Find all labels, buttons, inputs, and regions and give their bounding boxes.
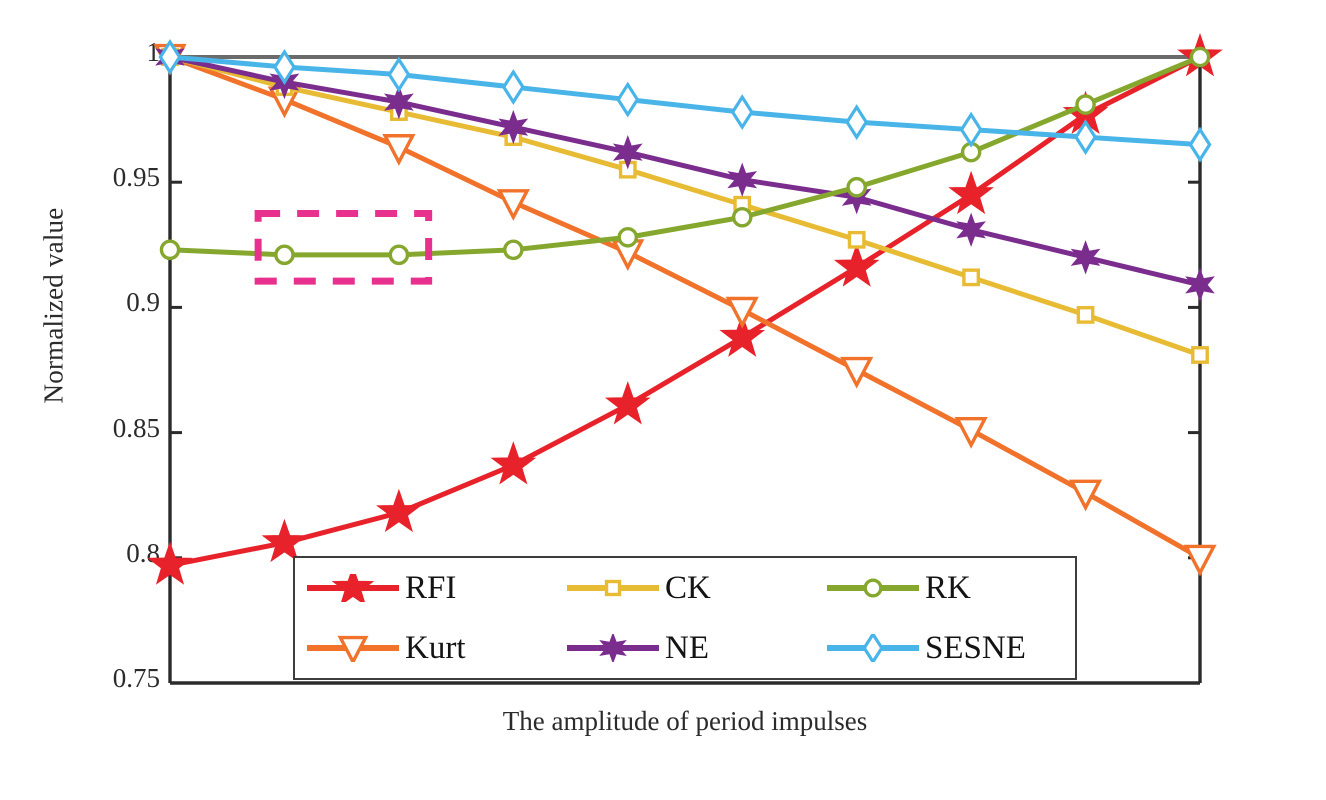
marker-star [493,443,534,482]
marker-star [378,491,419,530]
marker-circle [734,209,751,226]
series-line-ne [170,57,1200,285]
legend-label-kurt: Kurt [405,632,466,665]
marker-triangle-down [843,359,871,385]
legend: RFI CK RK Kurt NE SESNE [293,556,1077,680]
series-kurt [156,46,1214,573]
legend-swatch-ne [565,634,661,662]
marker-circle [619,229,636,246]
series-line-sesne [170,57,1200,145]
marker-circle [1191,48,1208,65]
legend-swatch-ck [565,574,661,602]
marker-square [1078,308,1092,322]
legend-item-rfi[interactable]: RFI [295,572,555,605]
marker-diamond [1190,130,1209,160]
marker-triangle-down [1186,546,1214,572]
legend-label-ck: CK [665,572,711,605]
marker-circle [390,246,407,263]
marker-circle [1077,96,1094,113]
marker-diamond [847,107,866,137]
marker-square [964,270,978,284]
legend-item-sesne[interactable]: SESNE [815,632,1075,665]
marker-circle [505,241,522,258]
marker-triangle-down [957,419,985,445]
marker-square [849,233,863,247]
legend-item-ck[interactable]: CK [555,572,815,605]
legend-label-ne: NE [665,632,709,665]
series-ck [163,50,1207,362]
marker-star [264,521,305,560]
marker-diamond [618,85,637,115]
plot-area [0,0,1326,800]
legend-swatch-rfi [305,574,401,602]
x-axis-title: The amplitude of period impulses [170,706,1200,737]
marker-diamond [504,72,523,102]
legend-item-rk[interactable]: RK [815,572,1075,605]
marker-diamond [733,97,752,127]
legend-swatch-kurt [305,634,401,662]
marker-circle [848,179,865,196]
legend-item-kurt[interactable]: Kurt [295,632,555,665]
marker-triangle-down [1072,481,1100,507]
marker-triangle-down [385,136,413,162]
chart-figure: Normalized value 10.950.90.850.80.75 The… [0,0,1326,800]
marker-diamond [962,115,981,145]
marker-square [1193,348,1207,362]
marker-circle [161,241,178,258]
marker-diamond [389,60,408,90]
marker-circle [276,246,293,263]
legend-swatch-rk [825,574,921,602]
marker-circle [865,580,881,596]
legend-label-rfi: RFI [405,572,456,605]
marker-star [607,383,648,422]
series-line-ck [170,57,1200,355]
marker-square [607,582,620,595]
legend-item-ne[interactable]: NE [555,632,815,665]
marker-diamond [864,634,882,662]
marker-triangle-down [728,299,756,325]
legend-label-sesne: SESNE [925,632,1026,665]
legend-label-rk: RK [925,572,971,605]
legend-swatch-sesne [825,634,921,662]
series-rk [161,48,1208,263]
series-ne [157,42,1213,300]
series-sesne [160,42,1209,160]
